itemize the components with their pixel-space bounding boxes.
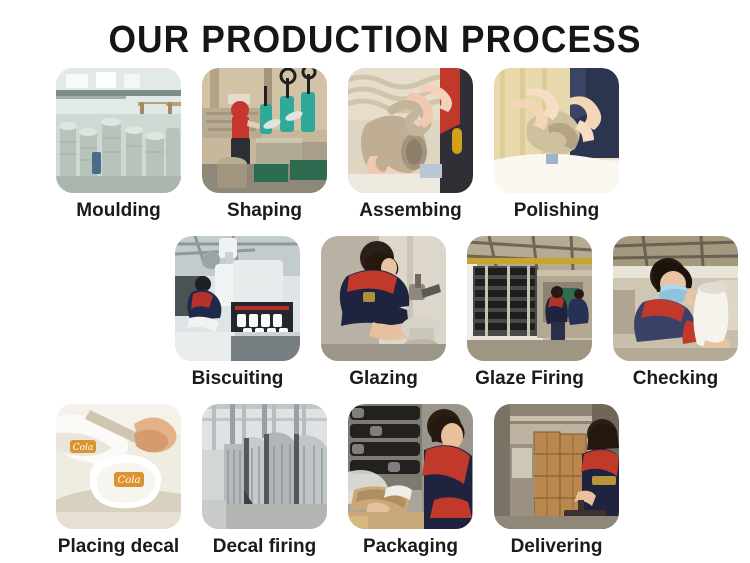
step-label: Glazing: [349, 368, 418, 390]
process-step-polishing[interactable]: Polishing: [494, 68, 619, 222]
placing-decal-photo[interactable]: Cola Cola: [56, 404, 181, 529]
checking-photo[interactable]: [613, 236, 738, 361]
step-label: Placing decal: [58, 536, 179, 558]
process-step-shaping[interactable]: Shaping: [202, 68, 327, 222]
process-row-2: Biscuiting: [175, 236, 738, 390]
glazing-photo[interactable]: [321, 236, 446, 361]
production-process-page: OUR PRODUCTION PROCESS: [0, 0, 750, 563]
process-step-assembing[interactable]: Assembing: [348, 68, 473, 222]
process-step-checking[interactable]: Checking: [613, 236, 738, 390]
process-step-decal-firing[interactable]: Decal firing: [202, 404, 327, 558]
step-label: Biscuiting: [192, 368, 284, 390]
step-label: Glaze Firing: [475, 368, 584, 390]
step-label: Shaping: [227, 200, 302, 222]
svg-text:Cola: Cola: [118, 475, 141, 486]
step-label: Decal firing: [213, 536, 316, 558]
process-step-glaze-firing[interactable]: Glaze Firing: [467, 236, 592, 390]
moulding-photo[interactable]: [56, 68, 181, 193]
process-step-packaging[interactable]: Packaging: [348, 404, 473, 558]
delivering-photo[interactable]: [494, 404, 619, 529]
glaze-firing-photo[interactable]: [467, 236, 592, 361]
process-row-1: Moulding: [56, 68, 619, 222]
step-label: Polishing: [514, 200, 600, 222]
process-step-moulding[interactable]: Moulding: [56, 68, 181, 222]
step-label: Packaging: [363, 536, 458, 558]
biscuiting-photo[interactable]: [175, 236, 300, 361]
process-row-3: Cola Cola Placing decal: [56, 404, 619, 558]
svg-text:Cola: Cola: [73, 443, 94, 453]
assembling-photo[interactable]: [348, 68, 473, 193]
step-label: Checking: [633, 368, 719, 390]
page-title: OUR PRODUCTION PROCESS: [26, 18, 724, 62]
process-step-biscuiting[interactable]: Biscuiting: [175, 236, 300, 390]
decal-firing-photo[interactable]: [202, 404, 327, 529]
shaping-photo[interactable]: [202, 68, 327, 193]
process-step-glazing[interactable]: Glazing: [321, 236, 446, 390]
packaging-photo[interactable]: [348, 404, 473, 529]
process-step-placing-decal[interactable]: Cola Cola Placing decal: [56, 404, 181, 558]
polishing-photo[interactable]: [494, 68, 619, 193]
step-label: Delivering: [511, 536, 603, 558]
process-step-delivering[interactable]: Delivering: [494, 404, 619, 558]
step-label: Moulding: [76, 200, 160, 222]
step-label: Assembing: [359, 200, 461, 222]
